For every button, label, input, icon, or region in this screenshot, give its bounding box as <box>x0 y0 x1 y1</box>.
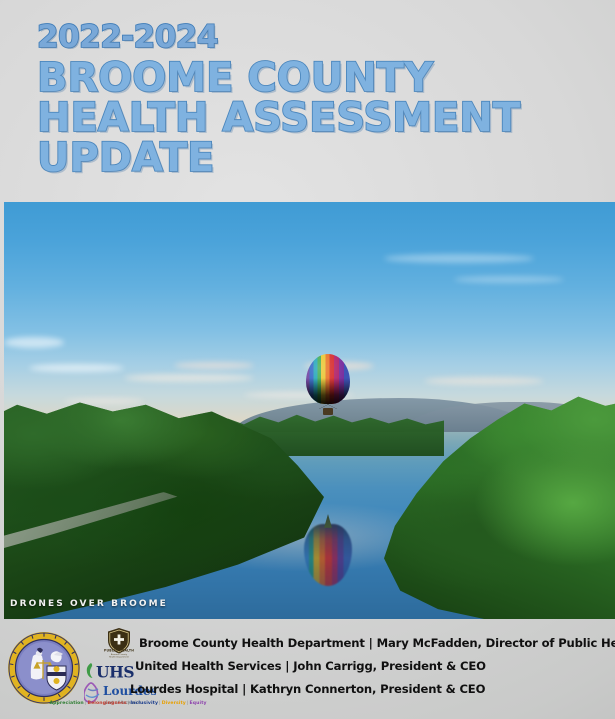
cloud <box>174 362 254 369</box>
tagline-word: Inclusivity <box>130 701 159 706</box>
public-health-shield-icon: PUBLIC HEALTH Broome County Health Depar… <box>102 627 136 659</box>
tagline-word: Belongingness <box>87 701 127 706</box>
report-cover-page: 2022-2024 BROOME COUNTY HEALTH ASSESSMEN… <box>0 0 615 719</box>
balloon-reflection-envelope <box>304 524 352 586</box>
page-title: BROOME COUNTY HEALTH ASSESSMENT UPDATE <box>37 58 597 178</box>
cloud <box>124 374 254 382</box>
title-block: 2022-2024 BROOME COUNTY HEALTH ASSESSMEN… <box>37 22 597 178</box>
cloud <box>4 337 64 348</box>
balloon-basket <box>323 408 333 415</box>
cloud <box>454 276 564 283</box>
balloon-envelope <box>306 354 350 404</box>
photo-scene: DRONES OVER BROOME <box>4 202 615 619</box>
svg-text:Health Department: Health Department <box>109 656 129 659</box>
cloud <box>384 254 534 263</box>
year-range: 2022-2024 <box>37 22 597 53</box>
tagline-word: Appreciation <box>49 701 84 706</box>
svg-text:PUBLIC HEALTH: PUBLIC HEALTH <box>104 649 134 653</box>
cloud <box>29 364 124 372</box>
tagline-word: Diversity <box>161 701 186 706</box>
org-line-united-health-services: United Health Services | John Carrigg, P… <box>135 659 613 673</box>
cloud <box>64 398 144 404</box>
org-line-health-department: Broome County Health Department | Mary M… <box>139 636 613 650</box>
balloon-reflection-shading <box>304 524 352 586</box>
values-tagline: Appreciation|Belongingness|Inclusivity|D… <box>49 701 207 706</box>
hot-air-balloon <box>306 354 350 416</box>
organization-list: Broome County Health Department | Mary M… <box>139 636 613 696</box>
cover-photo: DRONES OVER BROOME <box>4 202 615 619</box>
svg-text:Broome County: Broome County <box>111 653 128 656</box>
balloon-shading <box>306 354 350 404</box>
cloud <box>424 377 544 385</box>
photo-watermark: DRONES OVER BROOME <box>10 599 168 609</box>
tagline-word: Equity <box>189 701 207 706</box>
org-line-lourdes-hospital: Lourdes Hospital | Kathryn Connerton, Pr… <box>130 682 613 696</box>
svg-text:UHS: UHS <box>96 663 134 682</box>
footer: PUBLIC HEALTH Broome County Health Depar… <box>0 622 615 719</box>
broome-county-seal-icon <box>7 631 81 705</box>
balloon-reflection <box>304 514 352 586</box>
balloon-reflection-tip <box>324 514 332 528</box>
